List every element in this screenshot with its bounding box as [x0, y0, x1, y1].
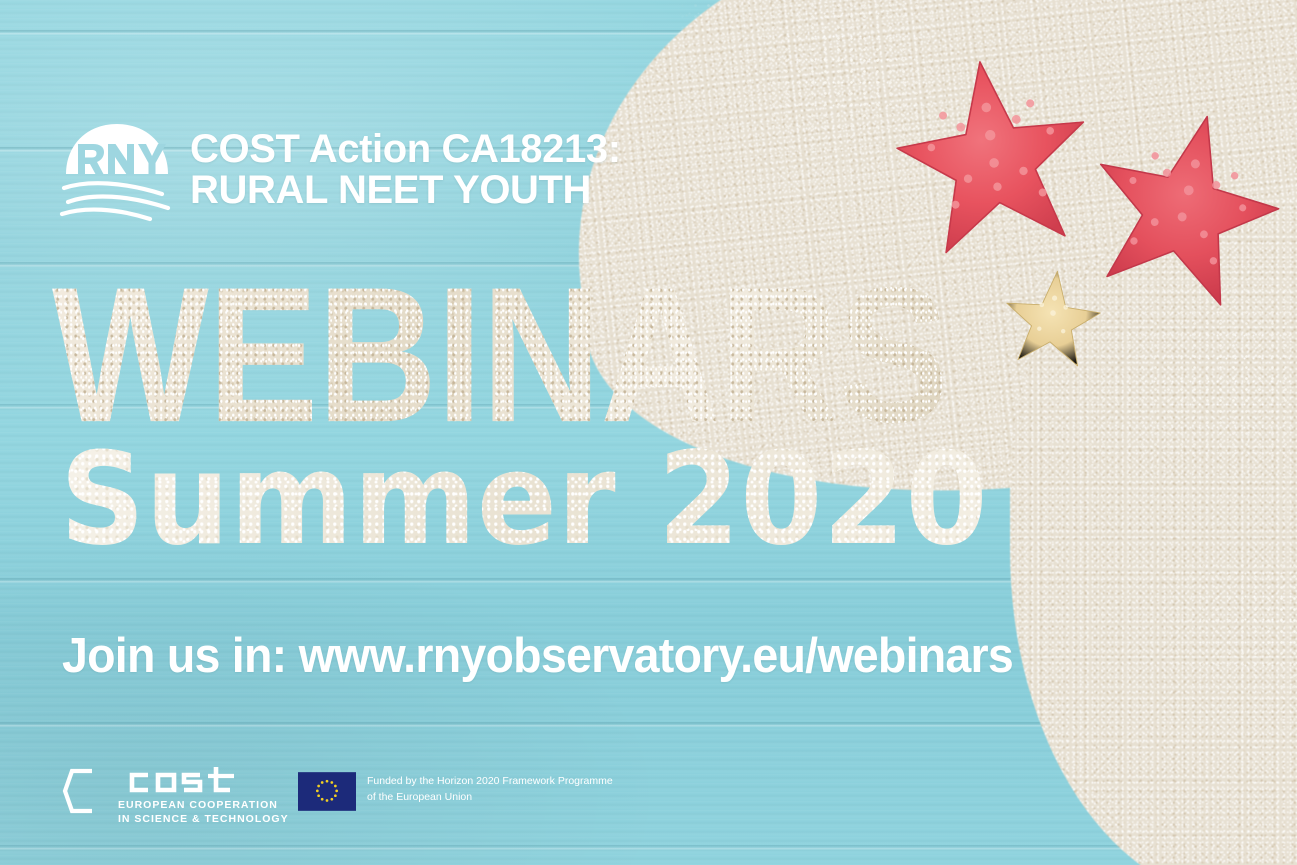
plank-seam: [0, 578, 1297, 583]
cost-wordmark-icon: [118, 765, 260, 795]
plank-seam: [0, 722, 1297, 727]
subtitle: Summer 2020: [60, 424, 988, 573]
cost-tagline-line-1: EUROPEAN COOPERATION: [118, 798, 289, 812]
plank-seam: [0, 845, 1297, 850]
starfish-yellow-icon: [995, 263, 1110, 373]
cost-tagline: EUROPEAN COOPERATION IN SCIENCE & TECHNO…: [118, 798, 289, 827]
eu-funding-badge: Funded by the Horizon 2020 Framework Pro…: [298, 772, 613, 811]
cost-hexagon-icon: [62, 767, 108, 815]
cost-tagline-line-2: IN SCIENCE & TECHNOLOGY: [118, 812, 289, 826]
header-line-1: COST Action CA18213:: [190, 129, 621, 170]
plank-seam: [0, 30, 1297, 35]
eu-funding-text: Funded by the Horizon 2020 Framework Pro…: [367, 772, 613, 806]
eu-text-line-2: of the European Union: [367, 790, 613, 806]
rny-circular-logo-icon: [58, 118, 176, 222]
join-us-link[interactable]: Join us in: www.rnyobservatory.eu/webina…: [62, 628, 1013, 684]
cost-words: EUROPEAN COOPERATION IN SCIENCE & TECHNO…: [118, 765, 289, 827]
header-line-2: RURAL NEET YOUTH: [190, 170, 621, 211]
header: COST Action CA18213: RURAL NEET YOUTH: [58, 118, 621, 222]
header-title: COST Action CA18213: RURAL NEET YOUTH: [190, 129, 621, 211]
poster-canvas: COST Action CA18213: RURAL NEET YOUTH WE…: [0, 0, 1297, 865]
eu-flag-icon: [298, 772, 356, 811]
cost-logo: EUROPEAN COOPERATION IN SCIENCE & TECHNO…: [62, 765, 289, 827]
eu-text-line-1: Funded by the Horizon 2020 Framework Pro…: [367, 774, 613, 790]
